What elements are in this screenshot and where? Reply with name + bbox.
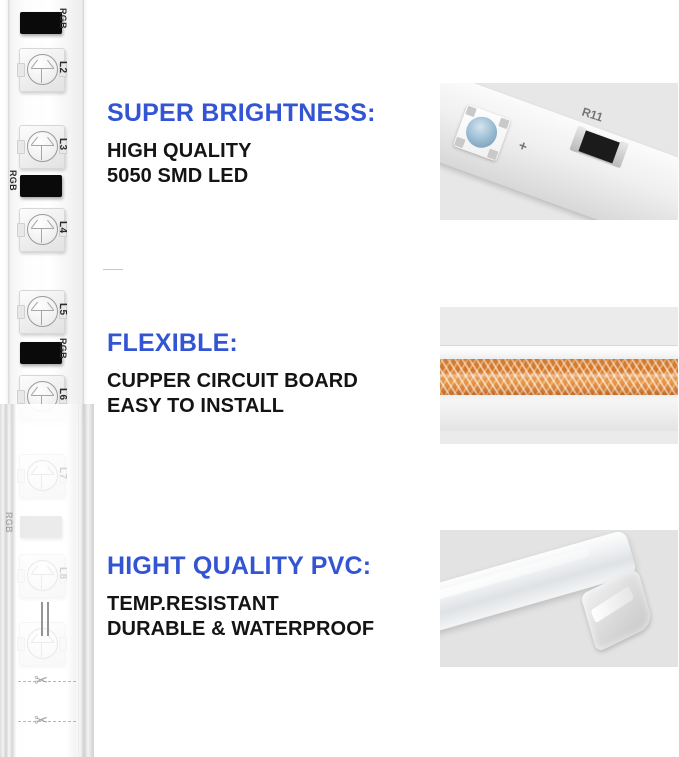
led-lens-icon	[27, 214, 58, 245]
feature-line-1-2: 5050 SMD LED	[107, 164, 376, 188]
led-package-l2: L2	[19, 48, 65, 92]
resistor-block	[20, 516, 62, 538]
led-label-l4: L4	[57, 221, 68, 233]
led-lens-icon	[27, 460, 58, 491]
cut-mark-2: ✂	[18, 712, 76, 732]
led-label-l2: L2	[57, 61, 68, 73]
photo-pvc-tube-end	[440, 530, 678, 667]
scissors-icon: ✂	[34, 711, 48, 731]
led-label-l3: L3	[57, 138, 68, 150]
feature-line-3-2: DURABLE & WATERPROOF	[107, 617, 374, 641]
led-pad-left	[17, 637, 25, 651]
feature-content: SUPER BRIGHTNESS: HIGH QUALITY 5050 SMD …	[96, 0, 679, 757]
tube-end-facet	[590, 586, 634, 623]
led-package-l8: L8	[19, 554, 65, 598]
feature-body-3: TEMP.RESISTANT DURABLE & WATERPROOF	[107, 592, 374, 641]
led-label-l6: L6	[57, 388, 68, 400]
led-label-l5: L5	[57, 303, 68, 315]
feature-text-3: HIGHT QUALITY PVC: TEMP.RESISTANT DURABL…	[107, 553, 374, 641]
feature-line-2-1: CUPPER CIRCUIT BOARD	[107, 369, 358, 393]
led-lens-icon	[27, 54, 58, 85]
solder-wire-pair	[40, 602, 52, 636]
silkscreen-label-plus: +	[516, 137, 529, 155]
led-label-l8: L8	[57, 567, 68, 579]
resistor-label-rgb-2: RGB	[8, 170, 18, 191]
led-pad-left	[17, 63, 25, 77]
pvc-gloss-highlight	[440, 347, 678, 357]
led-package-l4: L4	[19, 208, 65, 252]
feature-body-1: HIGH QUALITY 5050 SMD LED	[107, 139, 376, 188]
feature-line-3-1: TEMP.RESISTANT	[107, 592, 374, 616]
resistor-block	[20, 12, 62, 34]
pvc-sleeve: L7 RGB L8 ✂ ✂	[0, 404, 94, 757]
resistor-block	[20, 175, 62, 197]
led-pad-left	[17, 223, 25, 237]
led-label-l7: L7	[57, 467, 68, 479]
led-pad-left	[17, 140, 25, 154]
led-lens-icon	[27, 296, 58, 327]
copper-braid-core	[440, 359, 678, 395]
resistor-label-rgb-3: RGB	[58, 338, 68, 359]
feature-heading-2: FLEXIBLE:	[107, 330, 358, 356]
feature-heading-1: SUPER BRIGHTNESS:	[107, 100, 376, 126]
resistor-block	[20, 342, 62, 364]
feature-line-1-1: HIGH QUALITY	[107, 139, 376, 163]
led-strip-column: RGB L2 L3 RGB L4 L5 RGB	[0, 0, 96, 757]
resistor-label-rgb-1: RGB	[58, 8, 68, 29]
photo-pcb-5050-led-closeup: R11 D2 +	[440, 83, 678, 220]
pvc-lower-body	[440, 401, 678, 431]
scissors-icon: ✂	[34, 671, 48, 691]
cut-mark-1: ✂	[18, 672, 76, 692]
feature-line-2-2: EASY TO INSTALL	[107, 394, 358, 418]
led-pad-left	[17, 390, 25, 404]
feature-text-1: SUPER BRIGHTNESS: HIGH QUALITY 5050 SMD …	[107, 100, 376, 188]
led-package-l7: L7	[19, 454, 65, 498]
led-pad-left	[17, 305, 25, 319]
led-lens-icon	[27, 560, 58, 591]
smd-5050-led-macro	[453, 104, 511, 161]
led-package-l5: L5	[19, 290, 65, 334]
feature-body-2: CUPPER CIRCUIT BOARD EASY TO INSTALL	[107, 369, 358, 418]
feature-text-2: FLEXIBLE: CUPPER CIRCUIT BOARD EASY TO I…	[107, 330, 358, 418]
led-pad-left	[17, 569, 25, 583]
feature-heading-3: HIGHT QUALITY PVC:	[107, 553, 374, 579]
led-lens-icon	[27, 131, 58, 162]
photo-copper-circuit-board	[440, 307, 678, 444]
resistor-label-rgb-4: RGB	[4, 512, 14, 533]
led-pad-right	[59, 637, 67, 651]
led-pad-left	[17, 469, 25, 483]
section-divider-1	[103, 269, 123, 270]
smd-resistor-macro	[577, 130, 622, 164]
led-chip-icon	[462, 112, 502, 152]
led-package-l3: L3	[19, 125, 65, 169]
